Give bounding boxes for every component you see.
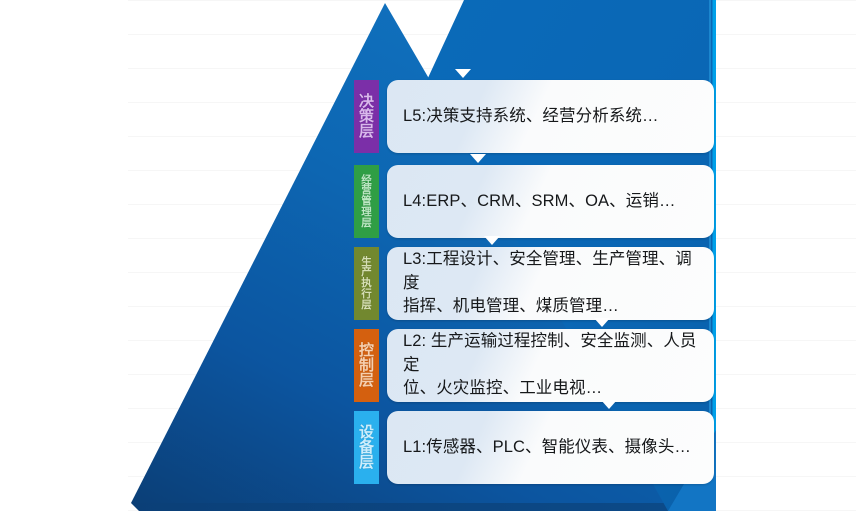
card-line: 指挥、机电管理、煤质管理… — [403, 295, 700, 319]
layer-row-l1[interactable]: 设 备 层 L1:传感器、PLC、智能仪表、摄像头… — [354, 411, 714, 484]
badge-char: 层 — [359, 373, 374, 388]
layer-row-l4[interactable]: 经 营 管 理 层 L4:ERP、CRM、SRM、OA、运销… — [354, 165, 714, 238]
connector-arrow-l1 — [601, 400, 617, 409]
card-line: 位、火灾监控、工业电视… — [403, 377, 700, 401]
badge-char: 层 — [361, 300, 372, 311]
layer-card-text-l1: L1:传感器、PLC、智能仪表、摄像头… — [403, 436, 691, 460]
badge-char: 层 — [359, 124, 374, 139]
layer-card-l1[interactable]: L1:传感器、PLC、智能仪表、摄像头… — [387, 411, 714, 484]
layer-card-l5[interactable]: L5:决策支持系统、经营分析系统… — [387, 80, 714, 153]
card-line: L1:传感器、PLC、智能仪表、摄像头… — [403, 436, 691, 460]
badge-char: 行 — [361, 289, 372, 300]
card-line: L5:决策支持系统、经营分析系统… — [403, 105, 659, 129]
layer-card-text-l4: L4:ERP、CRM、SRM、OA、运销… — [403, 190, 676, 214]
layer-card-l4[interactable]: L4:ERP、CRM、SRM、OA、运销… — [387, 165, 714, 238]
badge-l5: 决 策 层 — [354, 80, 379, 153]
badge-char: 理 — [361, 207, 372, 218]
layer-row-l3[interactable]: 生 产 执 行 层 L3:工程设计、安全管理、生产管理、调度 指挥、机电管理、煤… — [354, 247, 714, 320]
connector-arrow-l5 — [455, 69, 471, 78]
card-line: L4:ERP、CRM、SRM、OA、运销… — [403, 190, 676, 214]
layer-row-l2[interactable]: 控 制 层 L2: 生产运输过程控制、安全监测、人员定 位、火灾监控、工业电视… — [354, 329, 714, 402]
badge-char: 层 — [361, 218, 372, 229]
badge-char: 策 — [359, 109, 374, 124]
connector-arrow-l3 — [484, 236, 500, 245]
badge-char: 决 — [359, 94, 374, 109]
layer-card-text-l5: L5:决策支持系统、经营分析系统… — [403, 105, 659, 129]
badge-l2: 控 制 层 — [354, 329, 379, 402]
badge-char: 设 — [359, 425, 374, 440]
layer-card-l3[interactable]: L3:工程设计、安全管理、生产管理、调度 指挥、机电管理、煤质管理… — [387, 247, 714, 320]
card-line: L3:工程设计、安全管理、生产管理、调度 — [403, 248, 700, 296]
connector-arrow-l2 — [594, 318, 610, 327]
diagram-canvas: 决 策 层 L5:决策支持系统、经营分析系统… 经 营 管 理 层 L4: — [0, 0, 856, 514]
connector-arrow-l4 — [470, 154, 486, 163]
badge-l4: 经 营 管 理 层 — [354, 165, 379, 238]
badge-char: 备 — [359, 440, 374, 455]
card-line: L2: 生产运输过程控制、安全监测、人员定 — [403, 330, 700, 378]
badge-l3: 生 产 执 行 层 — [354, 247, 379, 320]
badge-char: 制 — [359, 358, 374, 373]
layer-card-l2[interactable]: L2: 生产运输过程控制、安全监测、人员定 位、火灾监控、工业电视… — [387, 329, 714, 402]
layer-row-l5[interactable]: 决 策 层 L5:决策支持系统、经营分析系统… — [354, 80, 714, 153]
badge-char: 控 — [359, 343, 374, 358]
layer-card-text-l2: L2: 生产运输过程控制、安全监测、人员定 位、火灾监控、工业电视… — [403, 330, 700, 402]
layer-rows: 决 策 层 L5:决策支持系统、经营分析系统… 经 营 管 理 层 L4: — [0, 0, 856, 514]
layer-card-text-l3: L3:工程设计、安全管理、生产管理、调度 指挥、机电管理、煤质管理… — [403, 248, 700, 320]
badge-l1: 设 备 层 — [354, 411, 379, 484]
badge-char: 层 — [359, 455, 374, 470]
